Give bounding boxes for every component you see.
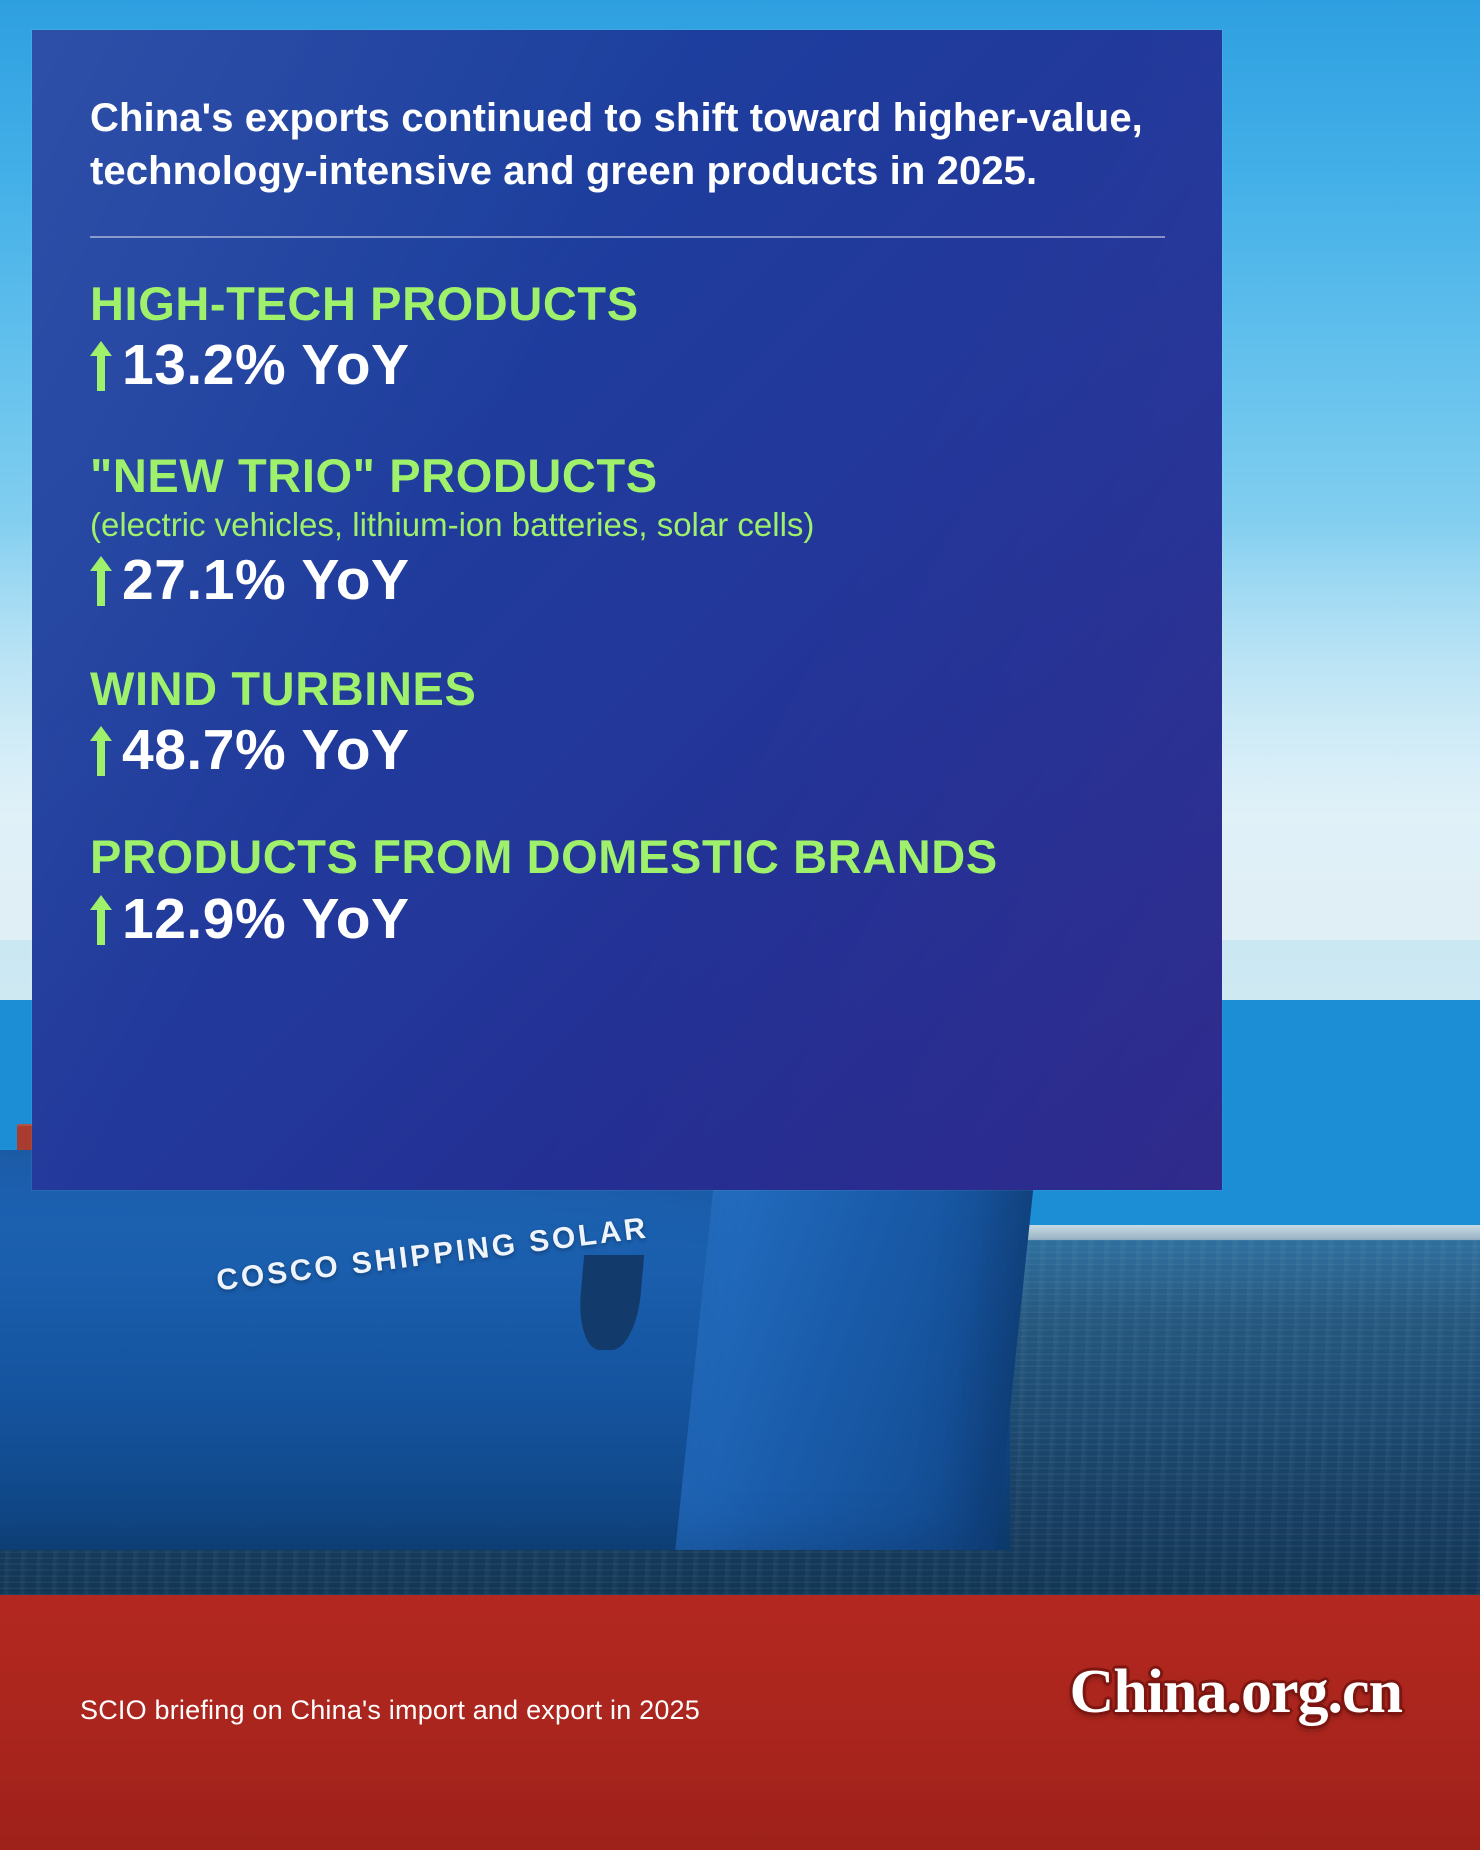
arrow-up-icon <box>90 895 112 945</box>
stat-value-row: 13.2% YoY <box>90 336 1162 396</box>
stat-subtitle: (electric vehicles, lithium-ion batterie… <box>90 505 1162 545</box>
title-divider <box>90 236 1165 238</box>
arrow-up-icon <box>90 341 112 391</box>
stat-value-text: 48.7% YoY <box>122 721 410 781</box>
stat-title: HIGH-TECH PRODUCTS <box>90 278 1162 331</box>
page-title: China's exports continued to shift towar… <box>90 92 1160 198</box>
stat-value-row: 12.9% YoY <box>90 890 1162 950</box>
stat-block-domestic-brands: PRODUCTS FROM DOMESTIC BRANDS 12.9% YoY <box>90 831 1162 949</box>
china-org-cn-logo: China.org.cn <box>1070 1657 1402 1728</box>
stat-block-wind-turbines: WIND TURBINES 48.7% YoY <box>90 663 1162 781</box>
infographic-panel: China's exports continued to shift towar… <box>32 30 1222 1190</box>
stat-block-high-tech: HIGH-TECH PRODUCTS 13.2% YoY <box>90 278 1162 396</box>
arrow-up-icon <box>90 556 112 606</box>
stat-title: PRODUCTS FROM DOMESTIC BRANDS <box>90 831 1162 884</box>
footer-bar: SCIO briefing on China's import and expo… <box>0 1595 1480 1850</box>
headline-line-2: technology-intensive and green products … <box>90 145 1160 198</box>
stat-title: WIND TURBINES <box>90 663 1162 716</box>
stat-value-text: 27.1% YoY <box>122 551 410 611</box>
stat-block-new-trio: "NEW TRIO" PRODUCTS (electric vehicles, … <box>90 450 1162 611</box>
stat-value-row: 48.7% YoY <box>90 721 1162 781</box>
arrow-up-icon <box>90 726 112 776</box>
stat-value-row: 27.1% YoY <box>90 551 1162 611</box>
stats-list: HIGH-TECH PRODUCTS 13.2% YoY "NEW TRIO" … <box>90 278 1162 950</box>
stat-value-text: 13.2% YoY <box>122 336 410 396</box>
footer-caption: SCIO briefing on China's import and expo… <box>80 1695 700 1726</box>
stat-title: "NEW TRIO" PRODUCTS <box>90 450 1162 503</box>
headline-line-1: China's exports continued to shift towar… <box>90 92 1160 145</box>
stat-value-text: 12.9% YoY <box>122 890 410 950</box>
